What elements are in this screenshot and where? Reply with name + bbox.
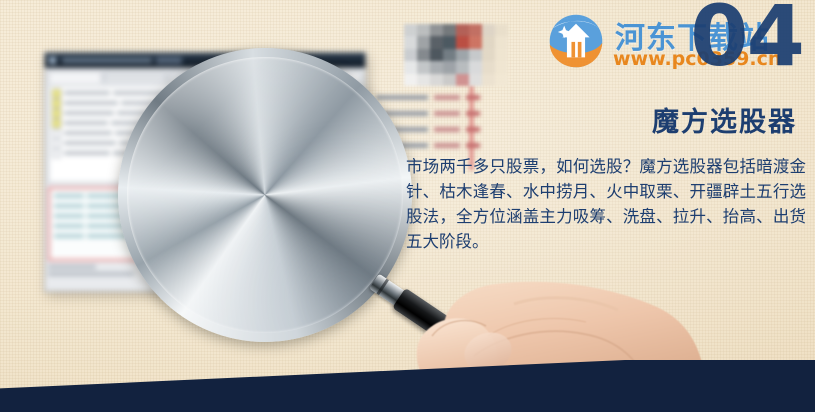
tab-blur-1: [48, 71, 102, 83]
page-title: 魔方选股器: [652, 100, 797, 139]
app-icon: [49, 57, 56, 64]
pixelated-censor-block: [404, 24, 508, 86]
bottom-navy-band: [0, 360, 815, 412]
section-number: 04: [690, 0, 803, 78]
magnifying-glass-icon: 选股结果 300185 通裕重工 目标涨幅 12. 000592 中福实业 目标…: [118, 48, 412, 342]
magnifier-rim: [118, 48, 412, 342]
arrow-up-building-logo-icon: [545, 12, 607, 70]
section-description: 市场两千多只股票，如何选股？魔方选股器包括暗渡金针、枯木逢春、水中捞月、火中取栗…: [406, 154, 806, 254]
poster-stage: 选股结果 300185 通裕重工 目标涨幅 12. 000592 中福实业 目标…: [0, 0, 815, 412]
